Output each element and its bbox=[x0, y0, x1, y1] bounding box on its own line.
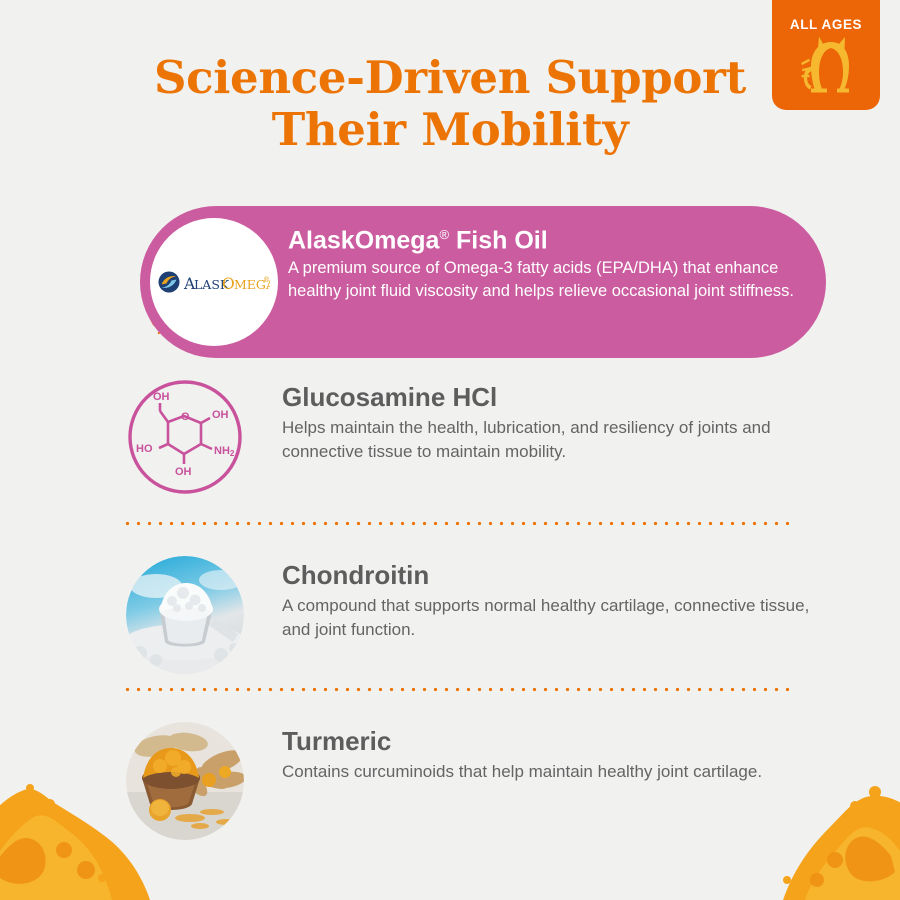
ingredient-row-glucosamine: OH O OH HO OH NH2 Glucosamine HCl Helps … bbox=[126, 378, 826, 496]
registered-mark-icon: ® bbox=[439, 227, 449, 242]
glucosamine-molecule-icon: OH O OH HO OH NH2 bbox=[126, 378, 244, 496]
svg-text:OH: OH bbox=[175, 466, 192, 478]
ingredient-title: Turmeric bbox=[282, 725, 762, 757]
page-title-line-2: Their Mobility bbox=[0, 104, 900, 156]
ingredient-description: Contains curcuminoids that help maintain… bbox=[282, 760, 762, 784]
svg-text:OH: OH bbox=[212, 409, 229, 421]
alaskomega-logo: A LASK O MEGA ® bbox=[158, 267, 270, 297]
ingredient-text-chondroitin: Chondroitin A compound that supports nor… bbox=[282, 556, 826, 641]
infographic-page: ALL AGES Science-Driven Support Their Mo… bbox=[0, 0, 900, 900]
featured-ingredient-card: A LASK O MEGA ® AlaskOmega® Fish Oil A p… bbox=[140, 206, 826, 358]
ingredient-text-turmeric: Turmeric Contains curcuminoids that help… bbox=[282, 722, 762, 784]
ingredient-row-turmeric: Turmeric Contains curcuminoids that help… bbox=[126, 722, 826, 840]
svg-text:OH: OH bbox=[153, 391, 170, 403]
chondroitin-powder-scoop-photo bbox=[126, 556, 244, 674]
svg-text:®: ® bbox=[263, 276, 270, 284]
section-divider bbox=[122, 687, 790, 692]
svg-text:O: O bbox=[222, 275, 235, 293]
svg-text:NH2: NH2 bbox=[214, 445, 235, 458]
ingredient-text-glucosamine: Glucosamine HCl Helps maintain the healt… bbox=[282, 378, 826, 463]
featured-ingredient-text: AlaskOmega® Fish Oil A premium source of… bbox=[288, 220, 800, 302]
turmeric-bowl-root-photo bbox=[126, 722, 244, 840]
all-ages-label: ALL AGES bbox=[772, 17, 880, 32]
ingredient-title: Chondroitin bbox=[282, 559, 826, 591]
featured-title-rest: Fish Oil bbox=[449, 226, 548, 254]
alaskomega-logo-circle: A LASK O MEGA ® bbox=[150, 218, 278, 346]
ingredient-row-chondroitin: Chondroitin A compound that supports nor… bbox=[126, 556, 826, 674]
ingredient-description: Helps maintain the health, lubrication, … bbox=[282, 416, 826, 463]
svg-text:O: O bbox=[181, 411, 190, 423]
featured-ingredient-description: A premium source of Omega-3 fatty acids … bbox=[288, 257, 800, 302]
page-title: Science-Driven Support Their Mobility bbox=[0, 52, 900, 156]
svg-text:HO: HO bbox=[136, 443, 153, 455]
ingredient-title: Glucosamine HCl bbox=[282, 381, 826, 413]
page-title-line-1: Science-Driven Support bbox=[0, 52, 900, 104]
section-divider bbox=[122, 521, 790, 526]
featured-ingredient-title: AlaskOmega® Fish Oil bbox=[288, 220, 800, 255]
ingredient-description: A compound that supports normal healthy … bbox=[282, 594, 826, 641]
featured-title-brand: AlaskOmega bbox=[288, 226, 439, 254]
